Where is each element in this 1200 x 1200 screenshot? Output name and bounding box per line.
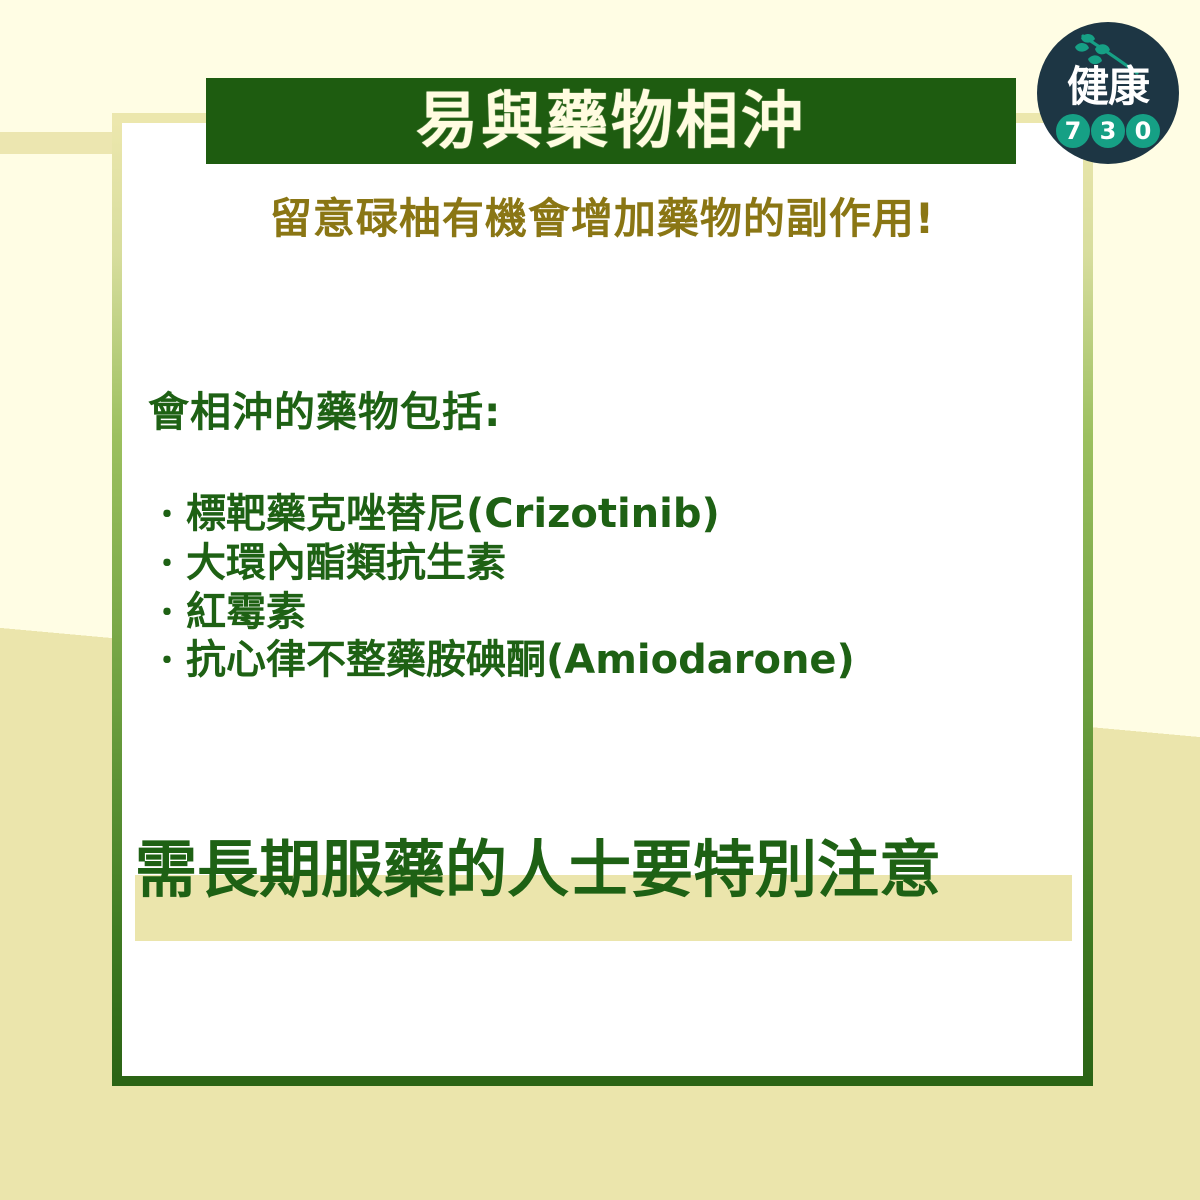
title-banner: 易與藥物相沖	[206, 78, 1016, 164]
poster-root: 易與藥物相沖 留意碌柚有機會增加藥物的副作用! 會相沖的藥物包括: ・ 標靶藥克…	[0, 0, 1200, 1200]
list-item-label: 標靶藥克唑替尼(Crizotinib)	[186, 490, 720, 539]
list-item-label: 大環內酯類抗生素	[186, 539, 506, 588]
bullet-dot-icon: ・	[152, 501, 186, 531]
background-left-strip	[0, 132, 122, 154]
bullet-dot-icon: ・	[152, 599, 186, 629]
logo-digit-group: 7 3 0	[1037, 114, 1179, 148]
brand-logo: 健康 7 3 0	[1037, 22, 1179, 164]
logo-digit: 0	[1126, 114, 1160, 148]
list-item: ・ 紅霉素	[152, 588, 1052, 637]
list-item: ・ 抗心律不整藥胺碘酮(Amiodarone)	[152, 636, 1052, 685]
list-item-label: 紅霉素	[186, 588, 306, 637]
logo-digit: 3	[1091, 114, 1125, 148]
logo-digit: 7	[1056, 114, 1090, 148]
drug-list: ・ 標靶藥克唑替尼(Crizotinib) ・ 大環內酯類抗生素 ・ 紅霉素 ・…	[152, 490, 1052, 685]
list-item-label: 抗心律不整藥胺碘酮(Amiodarone)	[186, 636, 855, 685]
list-item: ・ 標靶藥克唑替尼(Crizotinib)	[152, 490, 1052, 539]
bullet-dot-icon: ・	[152, 550, 186, 580]
logo-wordmark: 健康	[1037, 66, 1179, 108]
highlight-text: 需長期服藥的人士要特別注意	[135, 835, 1085, 904]
page-title: 易與藥物相沖	[416, 90, 806, 152]
list-item: ・ 大環內酯類抗生素	[152, 539, 1052, 588]
lead-text: 會相沖的藥物包括:	[148, 390, 501, 435]
bullet-dot-icon: ・	[152, 647, 186, 677]
subtitle-text: 留意碌柚有機會增加藥物的副作用!	[122, 196, 1083, 242]
